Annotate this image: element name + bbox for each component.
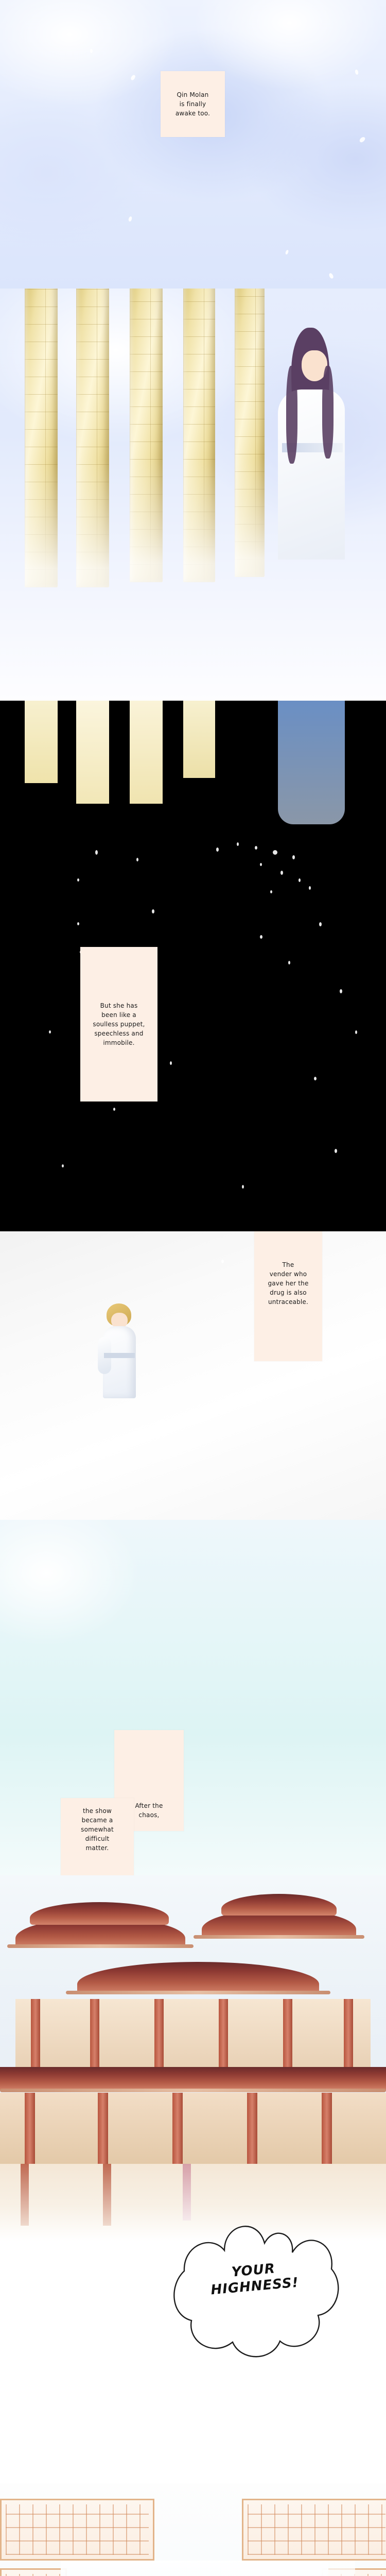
shadow-block xyxy=(242,701,278,762)
caption-line: immobile. xyxy=(89,1038,149,1047)
lattice-window xyxy=(0,2499,154,2561)
petal xyxy=(340,989,342,993)
caption-line: speechless and xyxy=(89,1029,149,1038)
petal xyxy=(77,878,79,882)
roof-eave xyxy=(7,1944,194,1948)
caption-qin-molan-awake: Qin Molan is finally awake too. xyxy=(161,71,225,137)
palace-column xyxy=(322,2093,332,2164)
petal xyxy=(136,858,138,861)
petal xyxy=(77,922,79,925)
petal xyxy=(319,922,322,926)
petal xyxy=(309,886,311,890)
panel-white-shout: YOUR HIGHNESS! xyxy=(0,2164,386,2483)
panel-starfield: But she has been like a soulless puppet,… xyxy=(0,701,386,1231)
caption-show-difficult: the show became a somewhat difficult mat… xyxy=(61,1798,134,1875)
palace-pillar xyxy=(76,289,109,587)
caption-line: Qin Molan xyxy=(171,90,214,99)
roof-eave xyxy=(194,1935,364,1939)
palace-wall xyxy=(15,1999,371,2071)
palace-pillar-base xyxy=(130,701,163,804)
caption-line: The xyxy=(264,1260,312,1269)
petal xyxy=(90,49,93,54)
caption-line: matter. xyxy=(77,1843,118,1853)
petal xyxy=(270,890,272,893)
palace-column xyxy=(247,2093,257,2164)
petal xyxy=(237,842,239,846)
caption-line: awake too. xyxy=(171,109,214,118)
caption-line: somewhat xyxy=(77,1825,118,1834)
palace-pillar-base xyxy=(183,701,215,778)
petal xyxy=(152,909,154,913)
panel-mint-sky: After the chaos, the show became a somew… xyxy=(0,1520,386,1875)
petal xyxy=(255,846,257,850)
caption-line: became a xyxy=(77,1816,118,1825)
petal xyxy=(285,250,289,255)
petal xyxy=(95,850,98,855)
petal xyxy=(280,871,283,875)
lattice-window xyxy=(242,2499,386,2561)
palace-pillar xyxy=(130,289,163,582)
caption-vender-untraceable: The vender who gave her the drug is also… xyxy=(254,1231,322,1361)
palace-column xyxy=(98,2093,108,2164)
caption-line: vender who xyxy=(264,1269,312,1279)
petal xyxy=(130,74,136,81)
curtain xyxy=(221,2561,355,2576)
caption-line: soulless puppet, xyxy=(89,1020,149,1029)
petal xyxy=(273,850,277,855)
child-belt xyxy=(104,1353,135,1358)
petal xyxy=(242,1185,244,1189)
caption-line: But she has xyxy=(89,1001,149,1010)
palace-column xyxy=(21,2164,29,2226)
caption-line: drug is also xyxy=(264,1288,312,1297)
panel-sky-intro: Qin Molan is finally awake too. xyxy=(0,0,386,289)
palace-pillar-base xyxy=(76,701,109,804)
petal xyxy=(299,878,301,882)
palace-pillar-base xyxy=(25,701,58,783)
petal xyxy=(355,1030,357,1034)
petal xyxy=(62,1164,64,1167)
petal xyxy=(260,935,262,939)
caption-line: gave her the xyxy=(264,1279,312,1288)
petal xyxy=(221,1260,224,1263)
character-hair-strand xyxy=(322,366,334,459)
panel-child-figure: The vender who gave her the drug is also… xyxy=(0,1231,386,1520)
palace-roof xyxy=(0,2067,386,2091)
palace-pillar xyxy=(235,289,265,577)
petal xyxy=(113,1108,115,1111)
palace-column xyxy=(103,2164,111,2226)
petal xyxy=(292,855,295,859)
caption-line: the show xyxy=(77,1806,118,1816)
petal xyxy=(335,1149,337,1153)
petal xyxy=(328,273,334,279)
caption-line: untraceable. xyxy=(264,1297,312,1307)
palace-column xyxy=(25,2093,35,2164)
character-hair-strand xyxy=(286,366,297,464)
palace-roof xyxy=(221,1894,337,1916)
caption-soulless-puppet: But she has been like a soulless puppet,… xyxy=(80,947,157,1101)
bubble-your-highness[interactable]: YOUR HIGHNESS! xyxy=(164,2194,345,2364)
palace-roof xyxy=(30,1902,169,1925)
petal xyxy=(354,69,359,75)
petal xyxy=(216,848,219,852)
petal xyxy=(288,961,290,964)
palace-pillar xyxy=(25,289,58,587)
petal xyxy=(49,1030,51,1033)
caption-line: After the xyxy=(131,1801,167,1810)
caption-line: is finally xyxy=(171,99,214,109)
palace-column xyxy=(172,2093,183,2164)
roof-eave xyxy=(0,2089,386,2092)
palace-pillar xyxy=(183,289,215,582)
panel-palace-interior: The show cannot be postponed anymore... … xyxy=(0,2483,386,2576)
palace-roof xyxy=(77,1962,319,1994)
lattice-window xyxy=(0,2568,67,2576)
caption-line: difficult xyxy=(77,1834,118,1843)
character-robe-lower xyxy=(278,701,345,824)
petal xyxy=(359,136,366,143)
petal xyxy=(170,1061,172,1065)
caption-line: chaos, xyxy=(131,1810,167,1820)
caption-line: been like a xyxy=(89,1010,149,1020)
petal xyxy=(128,216,132,222)
panel-palace-roofs xyxy=(0,1875,386,2164)
panel-golden-pillars xyxy=(0,289,386,701)
webtoon-page: Qin Molan is finally awake too. xyxy=(0,0,386,2576)
petal xyxy=(260,863,262,866)
roof-eave xyxy=(66,1991,330,1994)
petal xyxy=(314,1077,317,1080)
